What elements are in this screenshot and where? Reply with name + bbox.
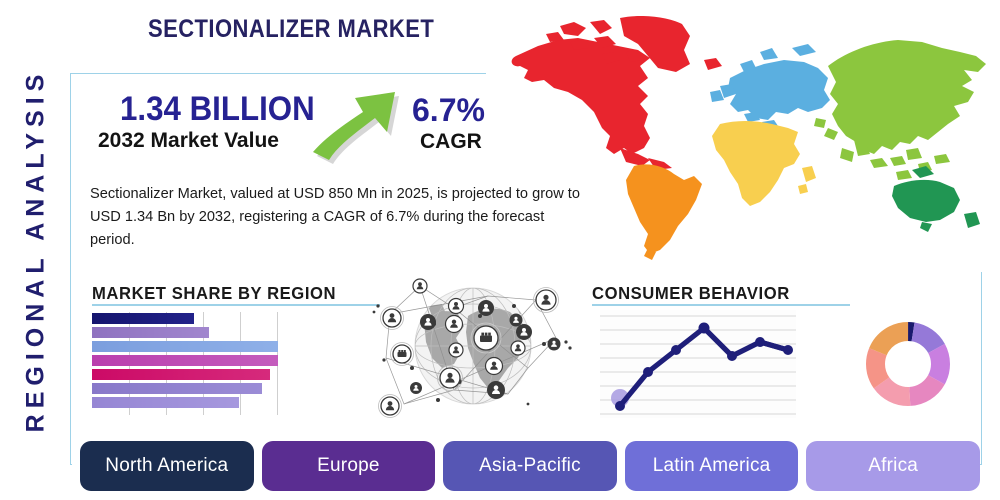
- bar-6: [92, 383, 262, 394]
- side-label-text: REGIONAL ANALYSIS: [22, 68, 51, 432]
- map-region-south-america: [626, 164, 702, 260]
- world-map-graphic: [498, 8, 998, 266]
- page-title: SECTIONALIZER MARKET: [148, 15, 434, 44]
- bar-5: [92, 369, 270, 380]
- region-button-bar: North America Europe Asia-Pacific Latin …: [80, 440, 980, 492]
- region-button-label: Africa: [868, 455, 918, 477]
- bar-4: [92, 355, 278, 366]
- bar-3: [92, 341, 278, 352]
- bar-row: [92, 355, 278, 366]
- region-button-africa[interactable]: Africa: [806, 441, 980, 491]
- map-region-asia: [814, 40, 986, 180]
- region-button-latin-america[interactable]: Latin America: [625, 441, 799, 491]
- market-value-amount: 1.34 BILLION: [120, 90, 315, 129]
- hero-metrics: 1.34 BILLION 2032 Market Value 6.7% CAGR: [90, 90, 510, 170]
- market-share-bar-chart: [92, 312, 278, 415]
- market-share-section-title: MARKET SHARE BY REGION: [92, 283, 336, 304]
- market-segments-donut-chart: [852, 308, 964, 420]
- market-value-caption: 2032 Market Value: [98, 129, 279, 153]
- region-button-north-america[interactable]: North America: [80, 441, 254, 491]
- bar-row: [92, 369, 270, 380]
- market-share-title-rule: [92, 304, 380, 306]
- bar-row: [92, 327, 209, 338]
- region-button-label: Europe: [317, 455, 379, 477]
- bar-2: [92, 327, 209, 338]
- bar-row: [92, 397, 239, 408]
- cagr-amount: 6.7%: [412, 92, 485, 129]
- bar-7: [92, 397, 239, 408]
- region-button-europe[interactable]: Europe: [262, 441, 436, 491]
- region-button-label: Asia-Pacific: [479, 455, 581, 477]
- region-button-label: Latin America: [653, 455, 771, 477]
- cagr-caption: CAGR: [420, 130, 482, 154]
- consumer-behavior-line-chart: [600, 310, 796, 418]
- bar-row: [92, 313, 194, 324]
- map-region-africa: [712, 121, 816, 206]
- bar-1: [92, 313, 194, 324]
- growth-arrow-icon: [308, 84, 400, 169]
- bar-row: [92, 383, 262, 394]
- consumer-behavior-title-rule: [592, 304, 850, 306]
- infographic-canvas: REGIONAL ANALYSIS SECTIONALIZER MARKET 1…: [0, 0, 1000, 500]
- map-region-north-america: [512, 16, 722, 170]
- region-button-asia-pacific[interactable]: Asia-Pacific: [443, 441, 617, 491]
- map-region-europe: [710, 44, 830, 128]
- bar-row: [92, 341, 278, 352]
- region-button-label: North America: [105, 455, 228, 477]
- global-network-icon: [368, 272, 578, 424]
- regional-analysis-side-label: REGIONAL ANALYSIS: [8, 0, 64, 500]
- consumer-behavior-section-title: CONSUMER BEHAVIOR: [592, 283, 790, 304]
